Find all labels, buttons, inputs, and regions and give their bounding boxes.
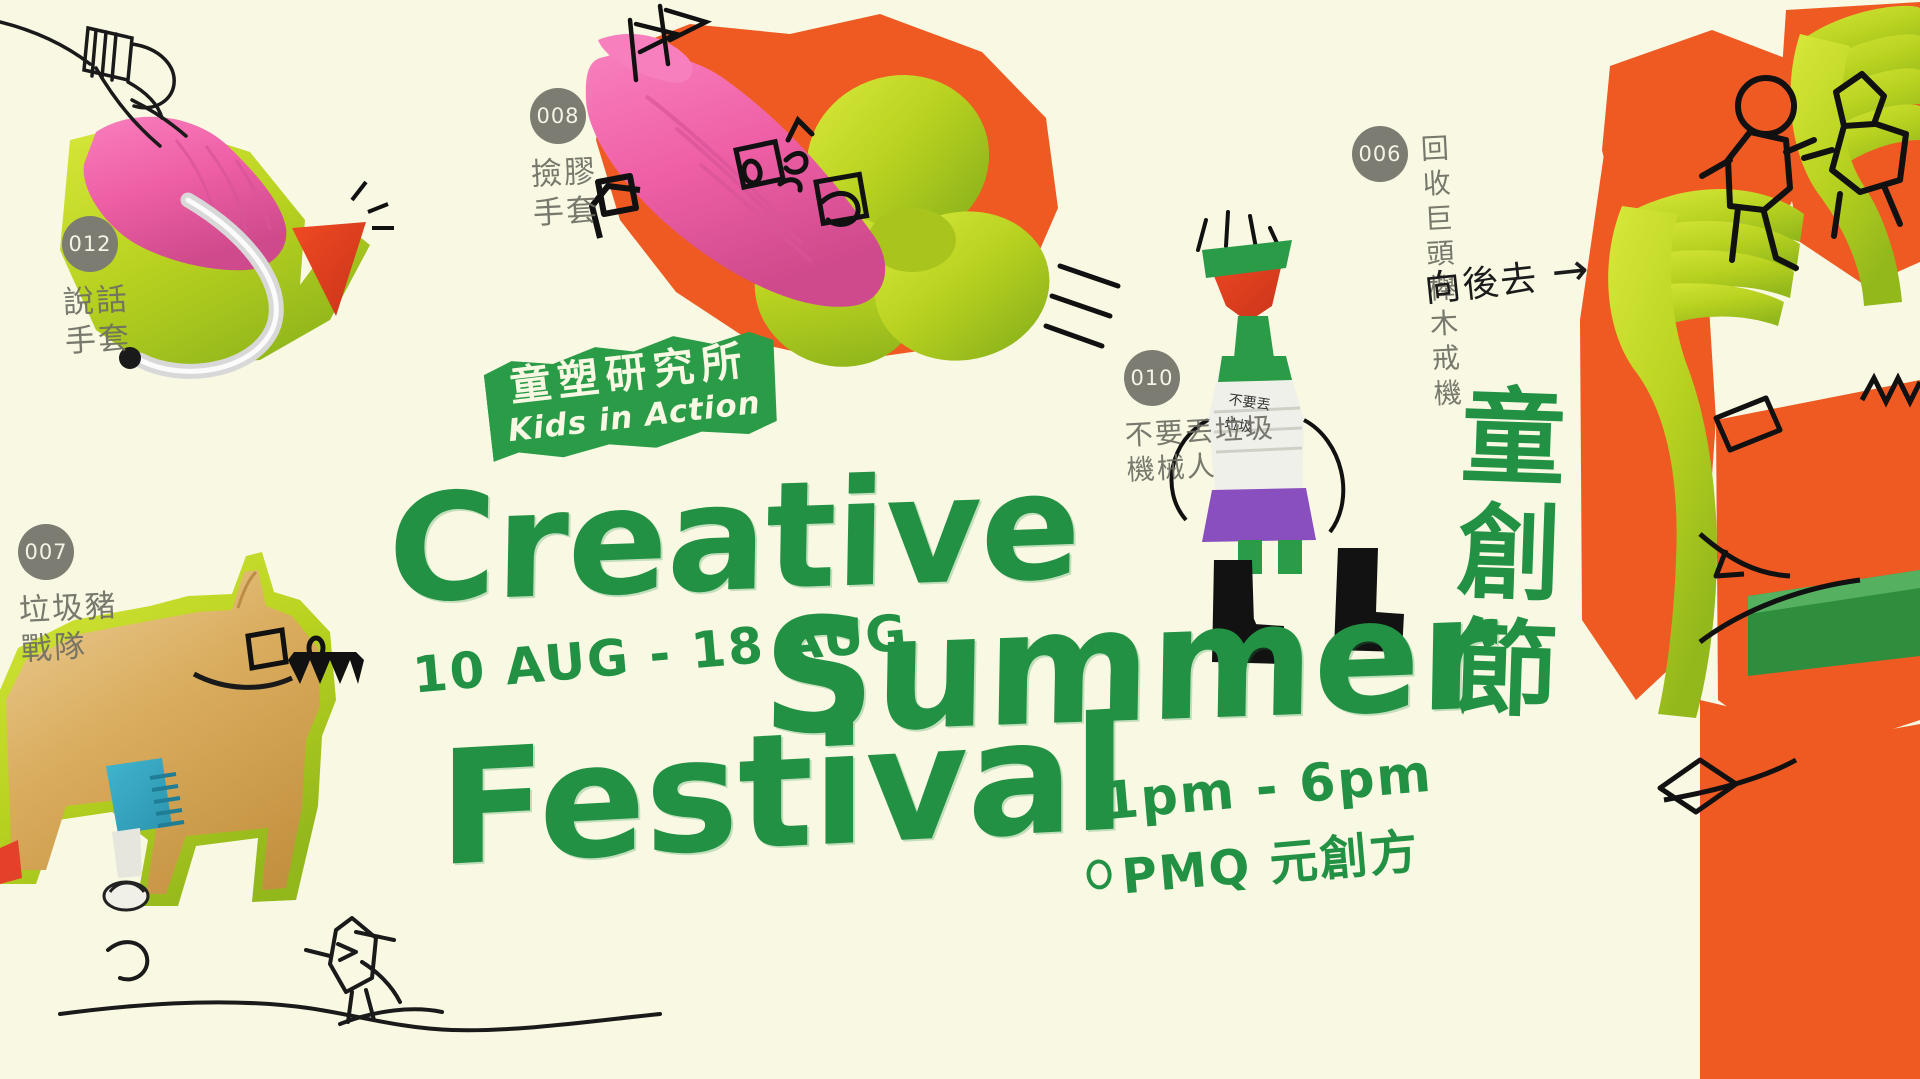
annotation-caption: 不要丟垃圾 機械人 <box>1124 410 1277 488</box>
vertical-chinese-title: 童創節 <box>1432 380 1567 732</box>
illustration-talking-glove <box>0 22 394 371</box>
annotation-007[interactable]: 007 垃圾豬 戰隊 <box>18 524 117 670</box>
arrow-right-icon: → <box>1549 247 1592 295</box>
poster-canvas: 不要丟 垃圾 <box>0 0 1920 1079</box>
illustration-orange-lime-forks <box>1580 2 1920 1079</box>
doodle-squiggle <box>108 942 147 979</box>
title-line-festival: Festival <box>438 682 1125 902</box>
annotation-number: 006 <box>1352 126 1408 182</box>
annotation-number: 008 <box>530 88 586 144</box>
annotation-caption: 垃圾豬 戰隊 <box>18 587 121 670</box>
annotation-008[interactable]: 008 撿膠 手套 <box>530 88 596 234</box>
annotation-number: 007 <box>18 524 74 580</box>
annotation-012[interactable]: 012 說話 手套 <box>62 216 128 362</box>
annotation-number: 010 <box>1124 350 1180 406</box>
annotation-number: 012 <box>62 216 118 272</box>
ground-line <box>60 1002 660 1030</box>
location-pin-icon <box>1085 858 1113 890</box>
annotation-010[interactable]: 010 不要丟垃圾 機械人 <box>1124 350 1274 488</box>
annotation-caption: 撿膠 手套 <box>530 153 600 234</box>
illustration-plastic-picking-glove <box>586 6 1118 388</box>
annotation-006[interactable]: 006 回收巨頭 櫸木戒機 <box>1352 126 1408 182</box>
annotation-caption: 說話 手套 <box>62 281 132 362</box>
illustration-bird-line-drawing <box>306 918 442 1024</box>
